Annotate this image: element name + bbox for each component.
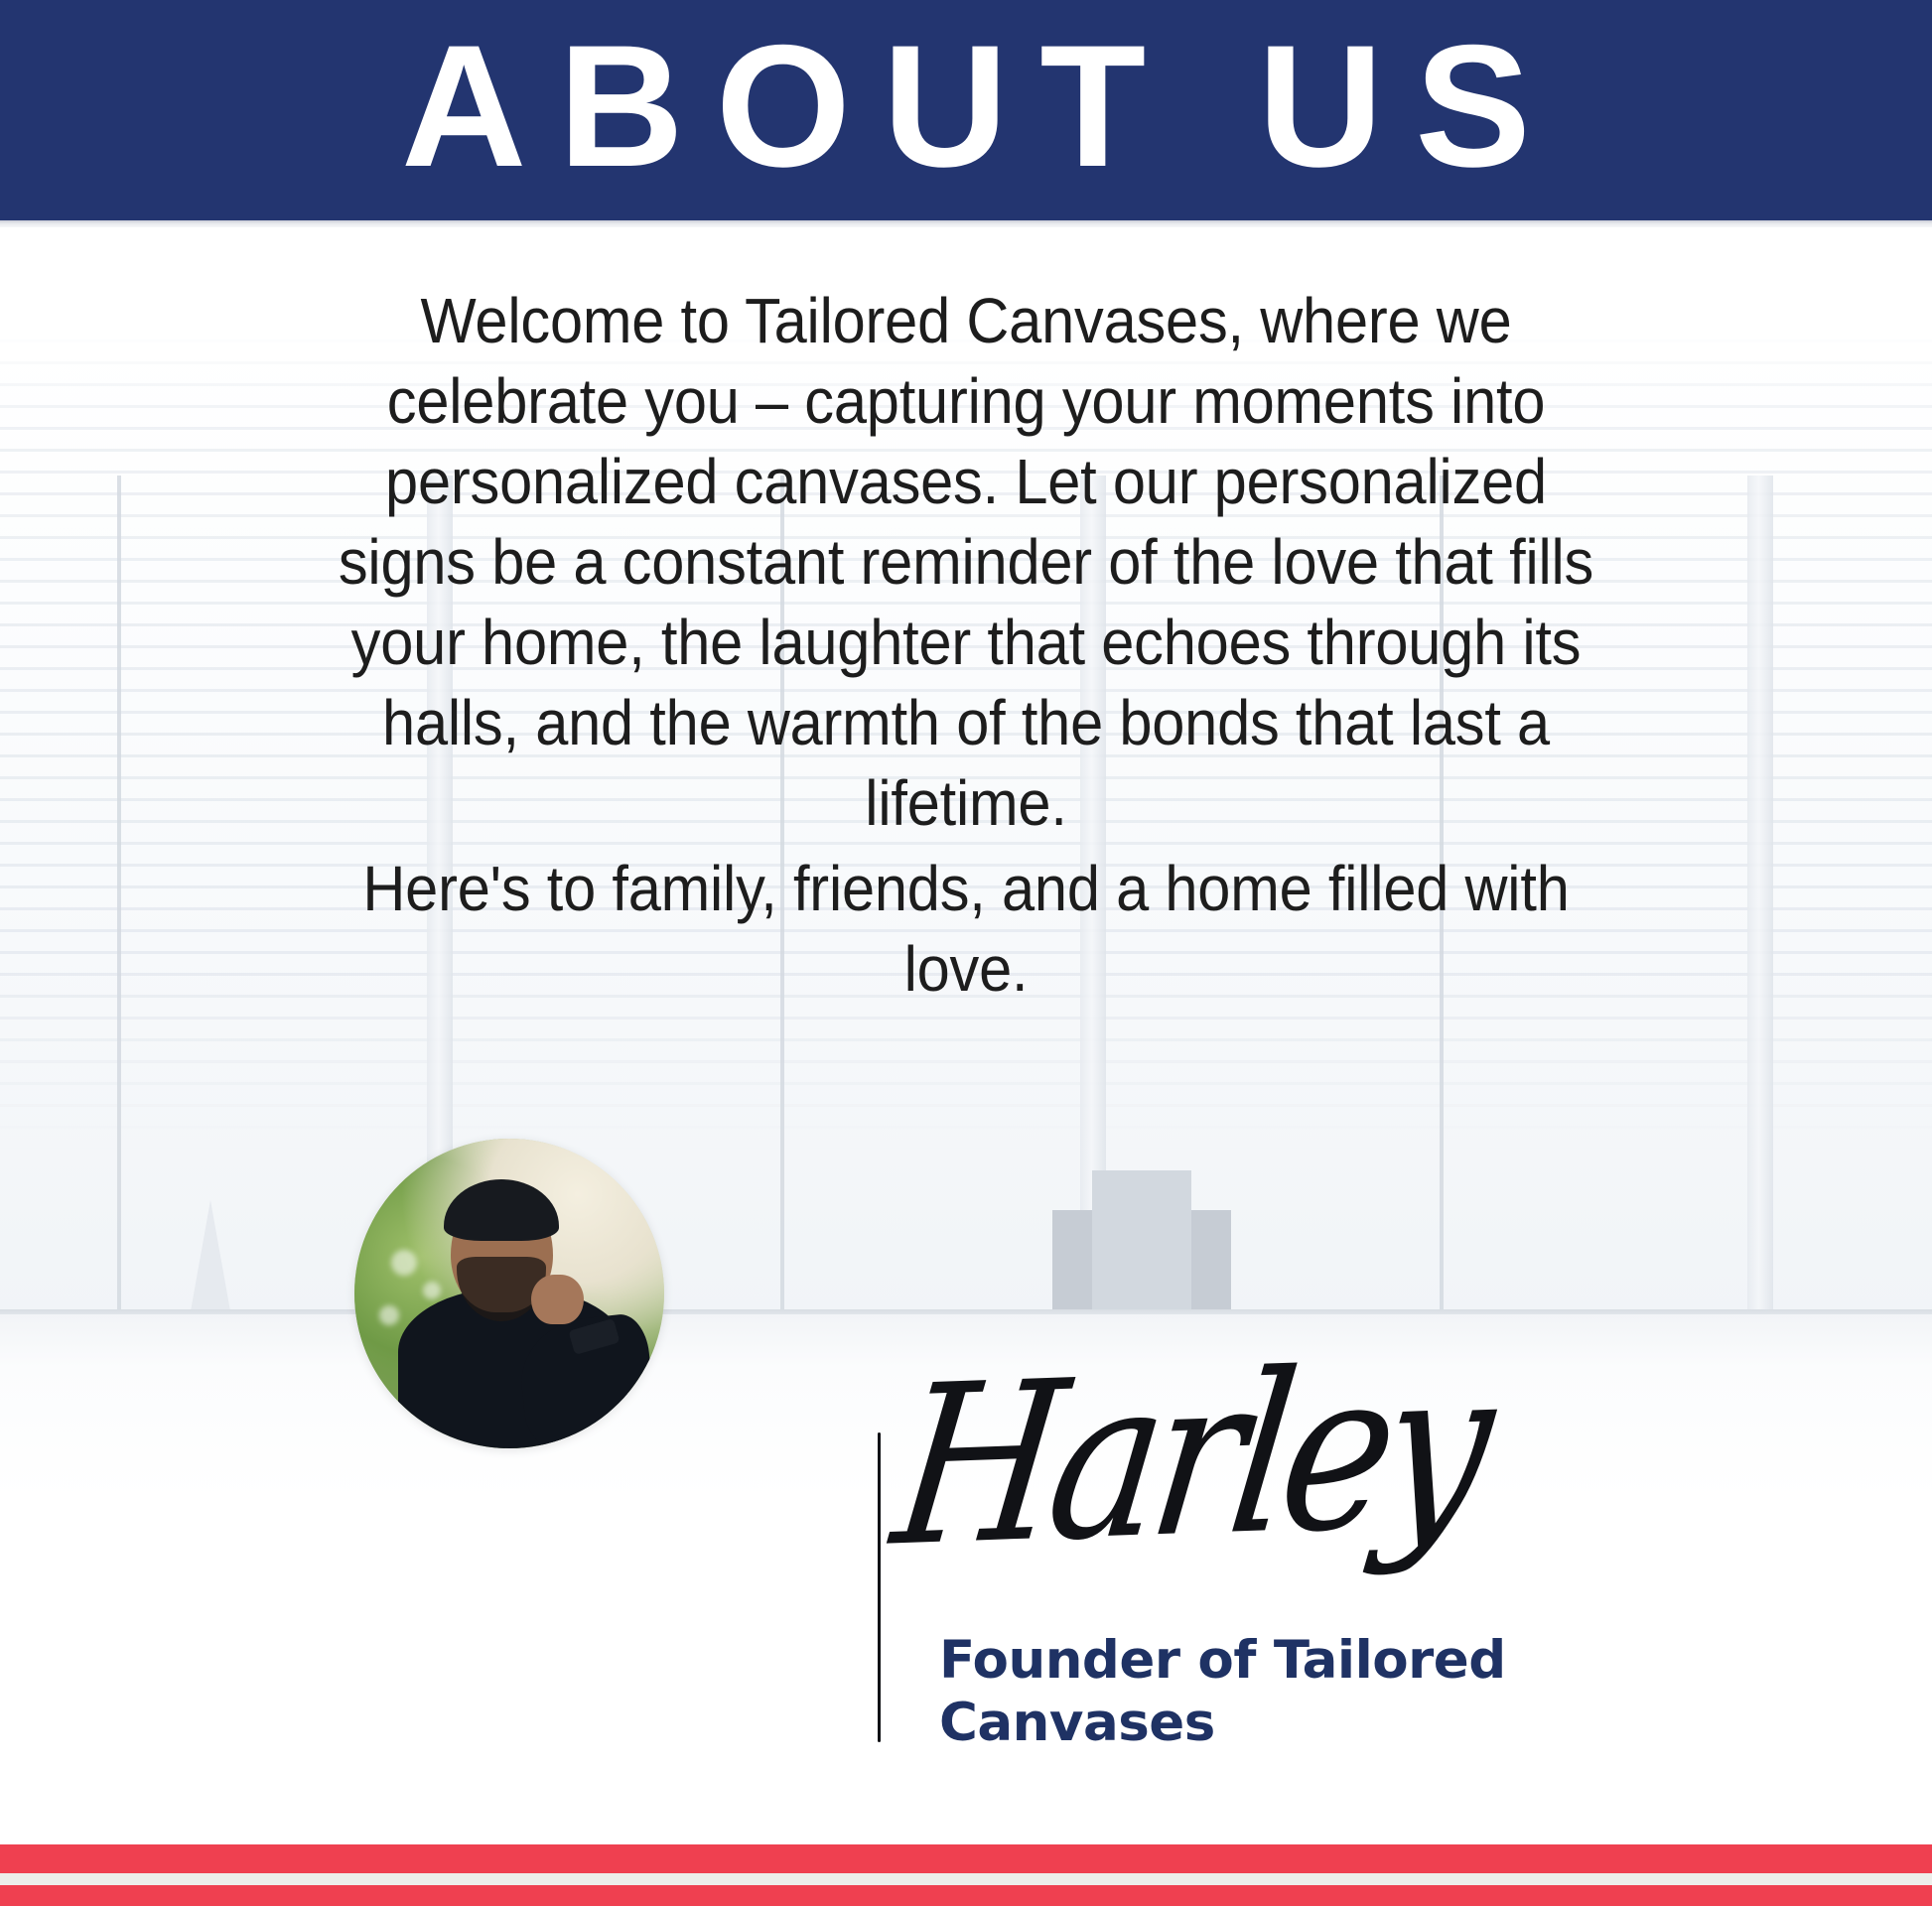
page-header: ABOUT US	[0, 0, 1932, 220]
avatar-hand	[531, 1275, 584, 1324]
footer-bar-bottom	[0, 1885, 1932, 1906]
about-paragraph-2: Here's to family, friends, and a home fi…	[311, 849, 1622, 1010]
founder-role-line-2: Canvases	[939, 1692, 1575, 1754]
about-us-page: ABOUT US Welcome to Tailored Canvases, w…	[0, 0, 1932, 1906]
header-underline	[0, 220, 1932, 227]
page-title: ABOUT US	[369, 20, 1563, 194]
founder-role: Founder of Tailored Canvases	[939, 1629, 1575, 1754]
founder-signature-name: Harley	[885, 1338, 1494, 1578]
about-paragraph-1: Welcome to Tailored Canvases, where we c…	[311, 281, 1622, 844]
founder-role-line-1: Founder of Tailored	[939, 1629, 1575, 1692]
footer-bar-top	[0, 1844, 1932, 1873]
avatar	[354, 1139, 664, 1448]
footer-bar-gap	[0, 1873, 1932, 1885]
bokeh-dot	[423, 1282, 441, 1299]
signature-mark: Harley	[898, 1375, 1454, 1673]
